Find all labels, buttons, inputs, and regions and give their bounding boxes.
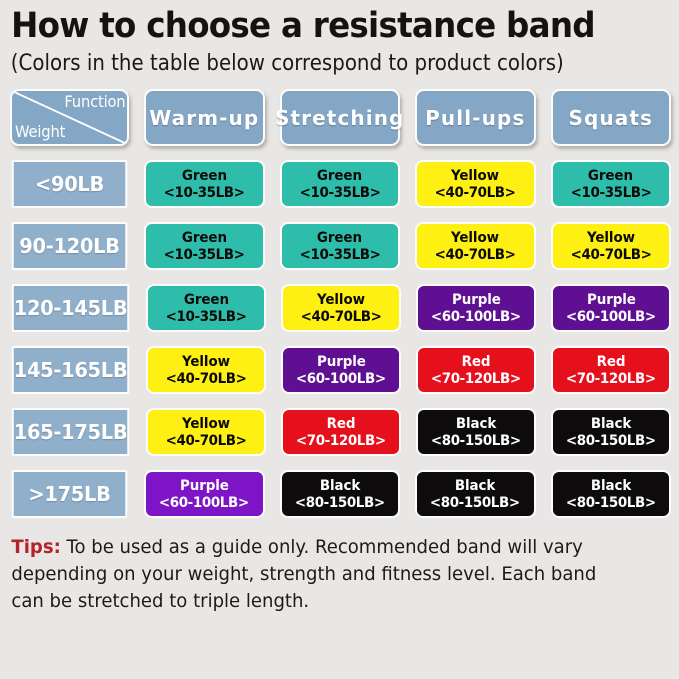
band-cell[interactable]: Yellow <40-70LB>: [146, 408, 266, 456]
band-cell[interactable]: Yellow <40-70LB>: [551, 222, 672, 270]
band-chip: Red <70-120LB>: [281, 408, 401, 456]
band-chip: Yellow <40-70LB>: [146, 408, 266, 456]
band-range: <80-150LB>: [566, 496, 656, 510]
resistance-band-table: Function Weight Warm-up Stretching Pull-…: [0, 89, 679, 518]
weight-label: 145-165LB: [12, 346, 129, 394]
infographic-page: How to choose a resistance band (Colors …: [0, 0, 679, 679]
column-header-warm-up[interactable]: Warm-up: [144, 89, 265, 146]
band-cell[interactable]: Yellow <40-70LB>: [281, 284, 401, 332]
column-header-label: Squats: [551, 89, 672, 146]
band-range: <80-150LB>: [431, 434, 521, 448]
band-chip: Green <10-35LB>: [280, 222, 401, 270]
band-range: <80-150LB>: [566, 434, 656, 448]
band-chip: Yellow <40-70LB>: [281, 284, 401, 332]
column-header-stretching[interactable]: Stretching: [280, 89, 401, 146]
band-range: <10-35LB>: [299, 248, 380, 262]
band-range: <10-35LB>: [166, 310, 247, 324]
page-title: How to choose a resistance band: [0, 0, 631, 48]
table-row: <90LB Green <10-35LB> Green <10-35LB> Ye…: [10, 160, 671, 208]
band-cell[interactable]: Purple <60-100LB>: [144, 470, 265, 518]
column-header-label: Stretching: [280, 89, 401, 146]
weight-cell: <90LB: [10, 160, 129, 208]
band-name: Green: [317, 231, 362, 245]
band-name: Green: [182, 169, 227, 183]
band-cell[interactable]: Red <70-120LB>: [551, 346, 671, 394]
function-weight-corner: Function Weight: [10, 89, 129, 146]
band-cell[interactable]: Black <80-150LB>: [280, 470, 401, 518]
band-cell[interactable]: Black <80-150LB>: [551, 470, 672, 518]
band-range: <70-120LB>: [431, 372, 521, 386]
weight-cell: 145-165LB: [10, 346, 131, 394]
page-subtitle: (Colors in the table below correspond to…: [0, 48, 611, 78]
band-name: Yellow: [182, 417, 230, 431]
band-chip: Green <10-35LB>: [144, 160, 265, 208]
band-cell[interactable]: Green <10-35LB>: [280, 160, 401, 208]
band-range: <40-70LB>: [166, 434, 247, 448]
band-chip: Yellow <40-70LB>: [415, 222, 536, 270]
band-name: Purple: [180, 479, 229, 493]
band-chip: Red <70-120LB>: [416, 346, 536, 394]
band-cell[interactable]: Red <70-120LB>: [281, 408, 401, 456]
corner-weight-label: Weight: [15, 123, 65, 141]
band-range: <60-100LB>: [159, 496, 249, 510]
weight-label: <90LB: [12, 160, 127, 208]
band-name: Black: [591, 479, 631, 493]
band-name: Purple: [317, 355, 366, 369]
band-range: <60-100LB>: [296, 372, 386, 386]
band-name: Yellow: [182, 355, 230, 369]
band-range: <70-120LB>: [296, 434, 386, 448]
band-chip: Purple <60-100LB>: [144, 470, 265, 518]
band-cell[interactable]: Black <80-150LB>: [415, 470, 536, 518]
band-cell[interactable]: Black <80-150LB>: [416, 408, 536, 456]
band-range: <10-35LB>: [570, 186, 651, 200]
column-header-label: Pull-ups: [415, 89, 536, 146]
band-name: Black: [455, 479, 495, 493]
band-cell[interactable]: Green <10-35LB>: [280, 222, 401, 270]
table-row: 165-175LB Yellow <40-70LB> Red <70-120LB…: [10, 408, 671, 456]
band-range: <10-35LB>: [164, 248, 245, 262]
band-cell[interactable]: Purple <60-100LB>: [281, 346, 401, 394]
weight-label: 120-145LB: [12, 284, 129, 332]
band-range: <10-35LB>: [299, 186, 380, 200]
band-cell[interactable]: Green <10-35LB>: [144, 160, 265, 208]
weight-cell: 120-145LB: [10, 284, 131, 332]
band-range: <80-150LB>: [430, 496, 520, 510]
band-name: Black: [320, 479, 360, 493]
band-range: <60-100LB>: [566, 310, 656, 324]
band-chip: Black <80-150LB>: [551, 470, 672, 518]
tips-body: To be used as a guide only. Recommended …: [11, 536, 596, 612]
band-range: <60-100LB>: [431, 310, 521, 324]
table-row: >175LB Purple <60-100LB> Black <80-150LB…: [10, 470, 671, 518]
tips-label: Tips:: [11, 536, 60, 558]
band-cell[interactable]: Yellow <40-70LB>: [415, 160, 536, 208]
band-chip: Red <70-120LB>: [551, 346, 671, 394]
band-name: Green: [588, 169, 633, 183]
table-header-row: Function Weight Warm-up Stretching Pull-…: [10, 89, 671, 146]
band-name: Red: [327, 417, 356, 431]
corner-header-cell: Function Weight: [10, 89, 129, 146]
band-cell[interactable]: Yellow <40-70LB>: [415, 222, 536, 270]
band-chip: Green <10-35LB>: [144, 222, 265, 270]
tips-paragraph: Tips: To be used as a guide only. Recomm…: [0, 518, 645, 615]
band-name: Yellow: [451, 231, 499, 245]
band-range: <40-70LB>: [435, 248, 516, 262]
band-range: <80-150LB>: [295, 496, 385, 510]
band-name: Yellow: [451, 169, 499, 183]
column-header-label: Warm-up: [144, 89, 265, 146]
band-cell[interactable]: Red <70-120LB>: [416, 346, 536, 394]
weight-label: >175LB: [12, 470, 127, 518]
band-chip: Yellow <40-70LB>: [146, 346, 266, 394]
band-name: Black: [591, 417, 631, 431]
band-chip: Green <10-35LB>: [146, 284, 266, 332]
band-name: Green: [184, 293, 229, 307]
band-range: <40-70LB>: [435, 186, 516, 200]
column-header-pull-ups[interactable]: Pull-ups: [415, 89, 536, 146]
weight-label: 165-175LB: [12, 408, 129, 456]
band-name: Yellow: [317, 293, 365, 307]
band-chip: Purple <60-100LB>: [416, 284, 536, 332]
band-name: Green: [182, 231, 227, 245]
band-range: <10-35LB>: [164, 186, 245, 200]
corner-function-label: Function: [64, 93, 125, 111]
band-chip: Green <10-35LB>: [280, 160, 401, 208]
band-cell[interactable]: Yellow <40-70LB>: [146, 346, 266, 394]
weight-cell: >175LB: [10, 470, 129, 518]
band-chip: Purple <60-100LB>: [281, 346, 401, 394]
band-name: Red: [462, 355, 491, 369]
band-range: <40-70LB>: [570, 248, 651, 262]
band-cell[interactable]: Green <10-35LB>: [551, 160, 672, 208]
band-name: Black: [456, 417, 496, 431]
band-name: Green: [317, 169, 362, 183]
band-range: <70-120LB>: [566, 372, 656, 386]
band-cell[interactable]: Green <10-35LB>: [146, 284, 266, 332]
band-chip: Green <10-35LB>: [551, 160, 672, 208]
band-chip: Yellow <40-70LB>: [415, 160, 536, 208]
band-chip: Black <80-150LB>: [416, 408, 536, 456]
band-cell[interactable]: Purple <60-100LB>: [416, 284, 536, 332]
weight-cell: 165-175LB: [10, 408, 131, 456]
band-name: Purple: [587, 293, 636, 307]
band-name: Purple: [452, 293, 501, 307]
band-chip: Black <80-150LB>: [415, 470, 536, 518]
band-range: <40-70LB>: [166, 372, 247, 386]
band-chip: Yellow <40-70LB>: [551, 222, 672, 270]
weight-label: 90-120LB: [12, 222, 127, 270]
column-header-squats[interactable]: Squats: [551, 89, 672, 146]
band-name: Red: [597, 355, 626, 369]
band-chip: Black <80-150LB>: [280, 470, 401, 518]
table-row: 145-165LB Yellow <40-70LB> Purple <60-10…: [10, 346, 671, 394]
table-row: 120-145LB Green <10-35LB> Yellow <40-70L…: [10, 284, 671, 332]
band-name: Yellow: [587, 231, 635, 245]
band-chip: Black <80-150LB>: [551, 408, 671, 456]
band-cell[interactable]: Purple <60-100LB>: [551, 284, 671, 332]
band-chip: Purple <60-100LB>: [551, 284, 671, 332]
table-row: 90-120LB Green <10-35LB> Green <10-35LB>…: [10, 222, 671, 270]
band-cell[interactable]: Green <10-35LB>: [144, 222, 265, 270]
weight-cell: 90-120LB: [10, 222, 129, 270]
band-cell[interactable]: Black <80-150LB>: [551, 408, 671, 456]
band-range: <40-70LB>: [301, 310, 382, 324]
